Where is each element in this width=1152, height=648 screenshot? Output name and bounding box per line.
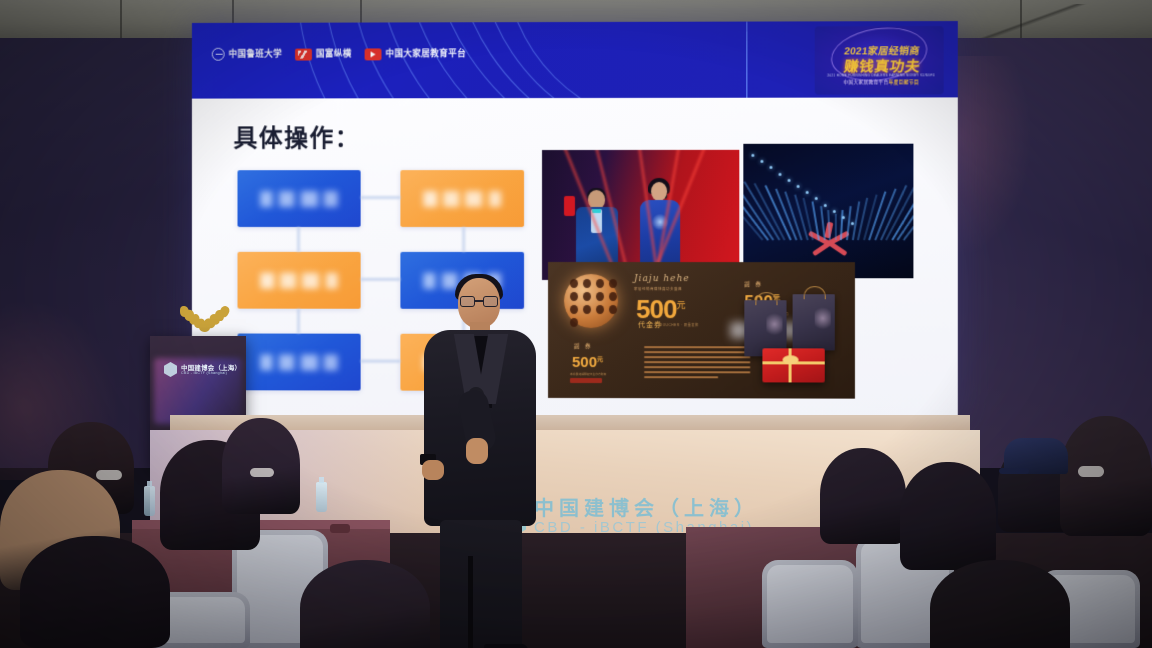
baseball-cap [1004, 438, 1068, 474]
light-dot [751, 154, 754, 157]
voucher-stub2-tag: 副 券 [574, 342, 593, 350]
flow-connector [361, 196, 401, 199]
kv-line-4-highlight: 年度巨献节目 [889, 79, 919, 84]
kv-line-4: 中国大家居教育平台年度巨献节目 [823, 79, 940, 85]
red-gift-box [762, 348, 824, 382]
voucher-stub2-redbar [570, 378, 602, 383]
slide-body: 具体操作： [192, 97, 958, 418]
sponsor-logo-row: 中国鲁班大学 国富纵横 中国大家居教育平台 [212, 47, 466, 61]
logo-luban-university: 中国鲁班大学 [212, 48, 282, 61]
audience-member-right-5 [930, 560, 1070, 648]
redacted-text [260, 191, 337, 207]
gift-bag [793, 294, 835, 350]
gala-hosts-photo [542, 150, 739, 280]
kv-line-3: 2021 HOME FURNISHING DEALERS EARNING MON… [823, 73, 940, 77]
face-mask [96, 470, 122, 480]
light-dot [797, 185, 800, 188]
amount-value: 500 [572, 354, 597, 371]
redacted-text [260, 354, 337, 370]
light-dot [824, 204, 827, 207]
redacted-text [260, 272, 337, 288]
lectern-title-en: CBD - iBCTF (Shanghai) [181, 371, 227, 375]
page-title: 具体操作： [234, 118, 361, 153]
flow-box-r1-c1 [238, 170, 361, 227]
voucher-script-word: Jiaju hehe [634, 274, 690, 284]
light-dot [842, 216, 845, 219]
flow-connector [297, 309, 300, 334]
voucher-label: 代金券 [638, 320, 662, 330]
logo-home-edu-platform: 中国大家居教育平台 [365, 48, 467, 60]
slide-header-band: 中国鲁班大学 国富纵横 中国大家居教育平台 2021家居经销商 赚钱真功夫 20… [192, 21, 958, 99]
voucher-stub2-amount: 500元 [572, 354, 603, 371]
flow-connector [361, 360, 401, 363]
logo-label: 中国大家居教育平台 [385, 49, 466, 58]
laser-beam [835, 214, 837, 240]
audience-member-left-5 [20, 536, 170, 648]
light-dot [779, 172, 782, 175]
voucher-fineprint: VOUCHER · 限量发放 [660, 322, 699, 327]
flow-connector [462, 227, 465, 252]
voucher-giftbag-photo: Jiaju hehe 家居经销商赚钱真功夫盛典 500元 代金券 VOUCHER… [548, 262, 855, 399]
conference-presentation-photo: 中国鲁班大学 国富纵横 中国大家居教育平台 2021家居经销商 赚钱真功夫 20… [0, 0, 1152, 648]
speaker-presenter [418, 278, 544, 648]
table-cup [330, 524, 350, 533]
voucher-terms-text [644, 346, 750, 381]
play-button-icon [365, 48, 382, 60]
light-dot [760, 160, 763, 163]
light-dot [833, 210, 836, 213]
floral-arrangement [178, 302, 224, 338]
redacted-text [423, 191, 501, 207]
university-seal-icon [212, 48, 225, 61]
amount-unit: 元 [597, 357, 603, 363]
amount-unit: 元 [677, 300, 685, 310]
kv-line-4-prefix: 中国大家居教育平台 [843, 79, 888, 84]
leg-separation [468, 556, 473, 648]
red-card-prop [564, 196, 575, 216]
eyeglasses-icon [460, 296, 498, 307]
left-hand [422, 460, 444, 480]
audience-chair [762, 560, 858, 648]
flow-box-r2-c1 [238, 252, 361, 309]
audience-member-left-6 [300, 560, 430, 648]
voucher-stub-tag: 副 券 [744, 280, 763, 288]
key-visual-badge: 2021家居经销商 赚钱真功夫 2021 HOME FURNISHING DEA… [815, 26, 944, 95]
face-mask [250, 468, 274, 477]
logo-guofu-zongheng: 国富纵横 [295, 48, 352, 60]
audience-member-right-4 [1060, 416, 1152, 536]
logo-label: 中国鲁班大学 [229, 50, 283, 59]
voucher-stub2-fineprint: 本券最终解释权归主办方所有 [570, 372, 606, 376]
water-bottle [316, 482, 327, 512]
light-dot [788, 179, 791, 182]
audience-member-right-2 [900, 462, 996, 570]
flow-box-r3-c1 [238, 334, 361, 391]
flow-connector [297, 227, 300, 252]
stage-branding-cn: 中国建博会（上海） [534, 498, 759, 520]
decorative-sphere [564, 274, 618, 328]
red-square-logo-icon [295, 48, 312, 60]
photo-collage: Jiaju hehe 家居经销商赚钱真功夫盛典 500元 代金券 VOUCHER… [542, 150, 913, 401]
flow-box-r1-c2 [400, 170, 524, 227]
right-hand [466, 438, 488, 464]
shoe-right [484, 644, 528, 648]
projection-screen: 中国鲁班大学 国富纵横 中国大家居教育平台 2021家居经销商 赚钱真功夫 20… [192, 21, 958, 418]
audience-member-left-4 [222, 418, 300, 514]
audience-member-right-1 [820, 448, 906, 544]
water-bottle [144, 486, 155, 516]
laser-beam [754, 183, 786, 240]
gift-bags-group [744, 290, 849, 390]
wall-right [952, 38, 1152, 468]
logo-label: 国富纵横 [316, 49, 352, 58]
voucher-script-sub: 家居经销商赚钱真功夫盛典 [634, 286, 682, 291]
light-dot [769, 166, 772, 169]
face-mask [1078, 466, 1104, 477]
flow-connector [361, 278, 401, 281]
light-dot [815, 197, 818, 200]
light-dot [806, 191, 809, 194]
acrobatic-stage-show-photo [743, 144, 913, 279]
trousers [440, 520, 522, 648]
